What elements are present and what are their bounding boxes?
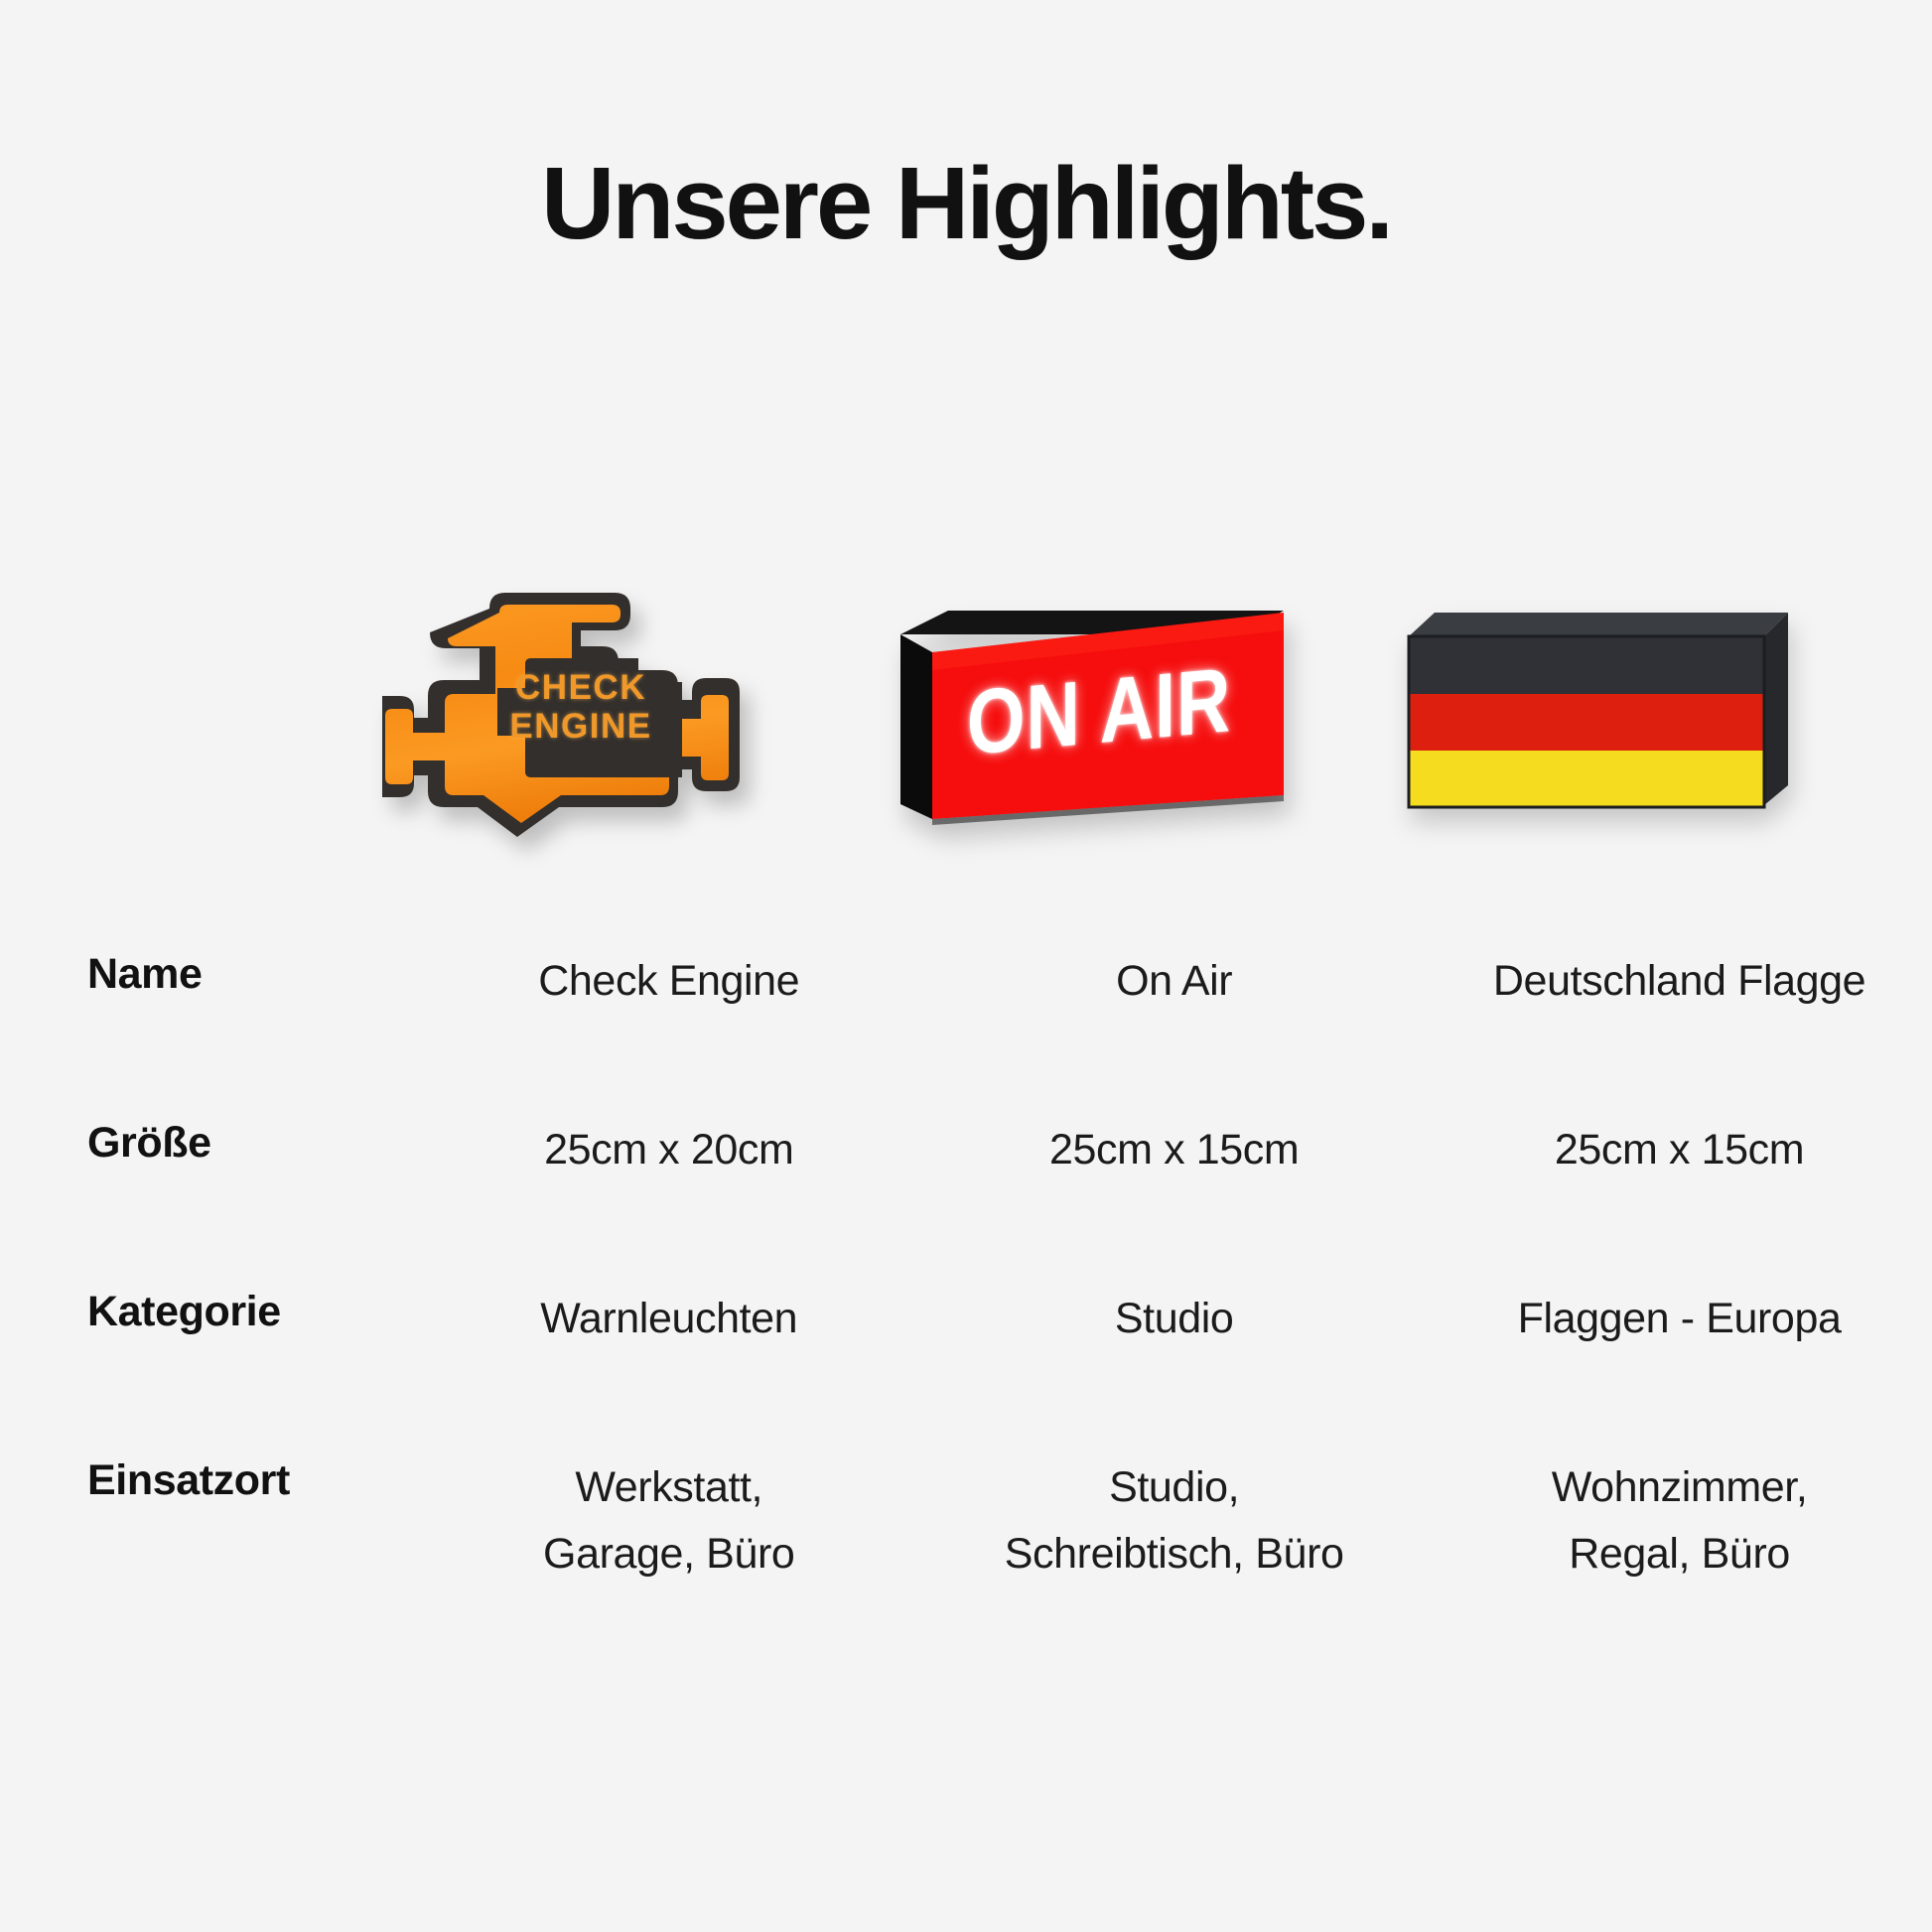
table-row: Größe 25cm x 20cm 25cm x 15cm 25cm x 15c…	[0, 1117, 1932, 1286]
deutschland-flagge-lightbox-image[interactable]	[1395, 591, 1792, 839]
highlights-infographic: Unsere Highlights.	[0, 0, 1932, 1932]
cell-name-deutschland-flagge: Deutschland Flagge	[1427, 948, 1932, 1015]
check-engine-lightbox-image[interactable]: CHECK ENGINE	[382, 561, 779, 839]
cell-text-line2: Regal, Büro	[1427, 1521, 1932, 1587]
cell-kategorie-on-air: Studio	[921, 1286, 1427, 1352]
cell-kategorie-deutschland-flagge: Flaggen - Europa	[1427, 1286, 1932, 1352]
comparison-table: Name Check Engine On Air Deutschland Fla…	[0, 948, 1932, 1653]
row-label-name: Name	[0, 948, 416, 1002]
cell-groesse-on-air: 25cm x 15cm	[921, 1117, 1427, 1183]
cell-text: Studio	[1115, 1295, 1234, 1342]
cell-einsatzort-check-engine: Werkstatt, Garage, Büro	[416, 1454, 921, 1587]
cell-name-check-engine: Check Engine	[416, 948, 921, 1015]
cell-text-line1: Werkstatt,	[575, 1463, 762, 1511]
cell-text: On Air	[1116, 957, 1232, 1005]
cell-text-line1: Studio,	[1109, 1463, 1239, 1511]
page-title: Unsere Highlights.	[0, 147, 1932, 259]
cell-text: 25cm x 15cm	[1555, 1126, 1804, 1173]
cell-name-on-air: On Air	[921, 948, 1427, 1015]
table-row: Kategorie Warnleuchten Studio Flaggen - …	[0, 1286, 1932, 1454]
cell-groesse-deutschland-flagge: 25cm x 15cm	[1427, 1117, 1932, 1183]
cell-einsatzort-deutschland-flagge: Wohnzimmer, Regal, Büro	[1427, 1454, 1932, 1587]
row-label-kategorie: Kategorie	[0, 1286, 416, 1339]
cell-groesse-check-engine: 25cm x 20cm	[416, 1117, 921, 1183]
row-label-groesse: Größe	[0, 1117, 416, 1171]
check-engine-icon	[382, 561, 779, 839]
cell-einsatzort-on-air: Studio, Schreibtisch, Büro	[921, 1454, 1427, 1587]
cell-text-line2: Garage, Büro	[416, 1521, 921, 1587]
on-air-lightbox-image[interactable]: ON AIR	[889, 591, 1286, 839]
table-row: Einsatzort Werkstatt, Garage, Büro Studi…	[0, 1454, 1932, 1653]
cell-text: Check Engine	[538, 957, 799, 1005]
cell-text: Flaggen - Europa	[1518, 1295, 1842, 1342]
cell-kategorie-check-engine: Warnleuchten	[416, 1286, 921, 1352]
product-image-row: CHECK ENGINE ON	[328, 541, 1847, 839]
on-air-box-icon	[889, 591, 1286, 839]
cell-text-line2: Schreibtisch, Büro	[921, 1521, 1427, 1587]
cell-text: 25cm x 20cm	[544, 1126, 793, 1173]
cell-text-line1: Wohnzimmer,	[1552, 1463, 1808, 1511]
cell-text: Deutschland Flagge	[1493, 957, 1865, 1005]
product-cell-check-engine[interactable]: CHECK ENGINE	[328, 541, 834, 839]
table-row: Name Check Engine On Air Deutschland Fla…	[0, 948, 1932, 1117]
product-cell-on-air[interactable]: ON AIR	[834, 541, 1340, 839]
row-label-einsatzort: Einsatzort	[0, 1454, 416, 1508]
cell-text: Warnleuchten	[540, 1295, 797, 1342]
product-cell-deutschland-flagge[interactable]	[1340, 541, 1847, 839]
cell-text: 25cm x 15cm	[1049, 1126, 1299, 1173]
german-flag-icon	[1395, 591, 1792, 839]
